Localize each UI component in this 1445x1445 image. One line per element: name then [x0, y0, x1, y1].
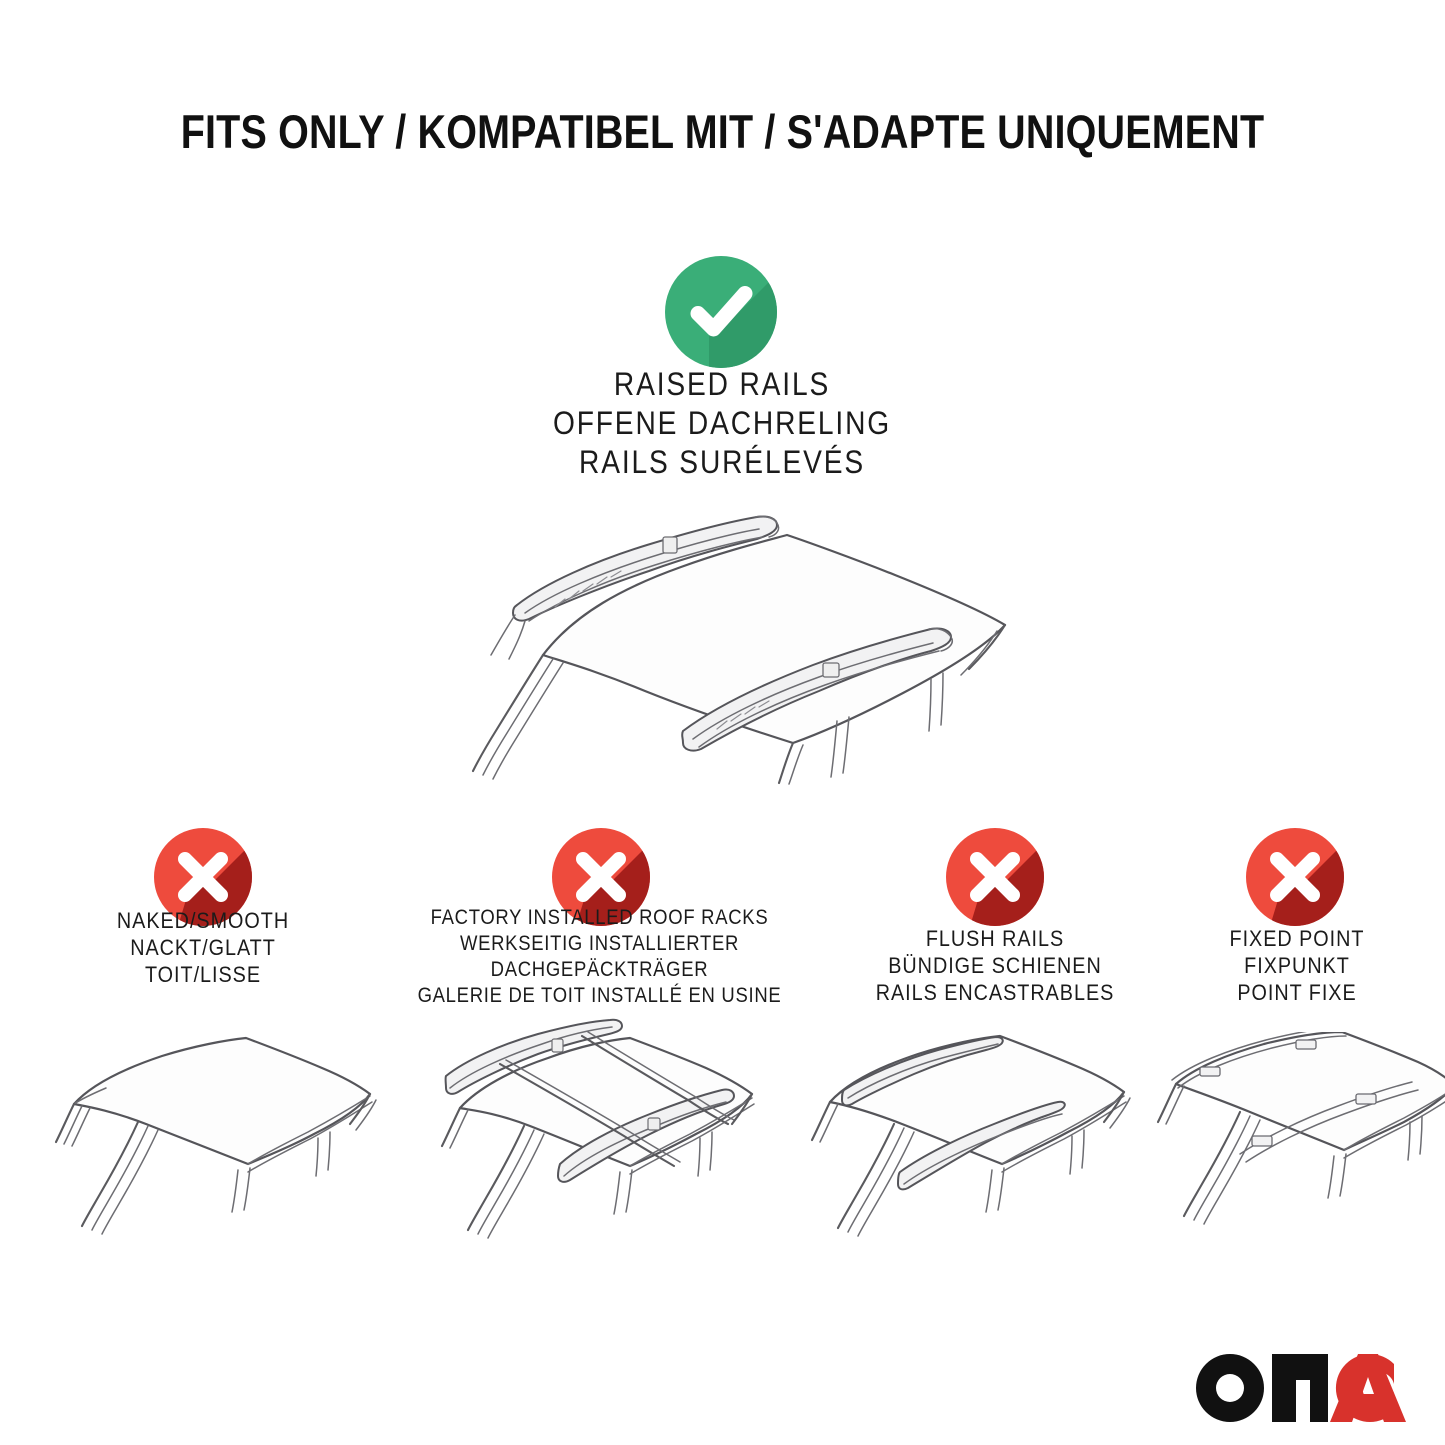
- compatible-label-block: RAISED RAILS OFFENE DACHRELING RAILS SUR…: [502, 365, 942, 482]
- check-circle-icon: [662, 253, 780, 371]
- incompatible-label-line: FIXPUNKT: [1165, 952, 1429, 979]
- incompatible-3-label-block: FLUSH RAILS BÜNDIGE SCHIENEN RAILS ENCAS…: [863, 925, 1127, 1006]
- incompatible-label-line: BÜNDIGE SCHIENEN: [863, 952, 1127, 979]
- incompatible-label-line: FLUSH RAILS: [863, 925, 1127, 952]
- incompatible-2-label-block: FACTORY INSTALLED ROOF RACKS WERKSEITIG …: [399, 905, 799, 1009]
- incompatible-label-line: GALERIE DE TOIT INSTALLÉ EN USINE: [399, 983, 799, 1009]
- incompatible-4-label-block: FIXED POINT FIXPUNKT POINT FIXE: [1165, 925, 1429, 1006]
- incompatible-label-line: RAILS ENCASTRABLES: [863, 979, 1127, 1006]
- car-roof-factory-roof-racks-illustration: [402, 1012, 764, 1240]
- omac-logo: [1196, 1352, 1410, 1424]
- logo-letter-m: [1272, 1354, 1328, 1422]
- incompatible-label-line: WERKSEITIG INSTALLIERTER: [399, 931, 799, 957]
- car-roof-fixed-point-illustration: [1132, 1032, 1445, 1242]
- compatible-label-line: RAISED RAILS: [502, 365, 942, 404]
- incompatible-label-line: NAKED/SMOOTH: [71, 907, 335, 934]
- compatible-label-line: RAILS SURÉLEVÉS: [502, 443, 942, 482]
- incompatible-label-line: POINT FIXE: [1165, 979, 1429, 1006]
- page-title: FITS ONLY / KOMPATIBEL MIT / S'ADAPTE UN…: [116, 104, 1330, 159]
- cross-circle-icon: [944, 826, 1046, 928]
- car-roof-raised-rails-illustration: [425, 495, 1025, 785]
- infographic-page: FITS ONLY / KOMPATIBEL MIT / S'ADAPTE UN…: [0, 0, 1445, 1445]
- incompatible-1-label-block: NAKED/SMOOTH NACKT/GLATT TOIT/LISSE: [71, 907, 335, 988]
- compatible-label-line: OFFENE DACHRELING: [502, 404, 942, 443]
- incompatible-label-line: DACHGEPÄCKTRÄGER: [399, 957, 799, 983]
- car-roof-naked-smooth-illustration: [22, 1022, 384, 1240]
- cross-circle-icon: [1244, 826, 1346, 928]
- logo-letter-o: [1196, 1354, 1264, 1422]
- car-roof-flush-rails-illustration: [782, 1032, 1144, 1242]
- incompatible-label-line: FIXED POINT: [1165, 925, 1429, 952]
- incompatible-label-line: NACKT/GLATT: [71, 934, 335, 961]
- incompatible-label-line: FACTORY INSTALLED ROOF RACKS: [399, 905, 799, 931]
- incompatible-label-line: TOIT/LISSE: [71, 961, 335, 988]
